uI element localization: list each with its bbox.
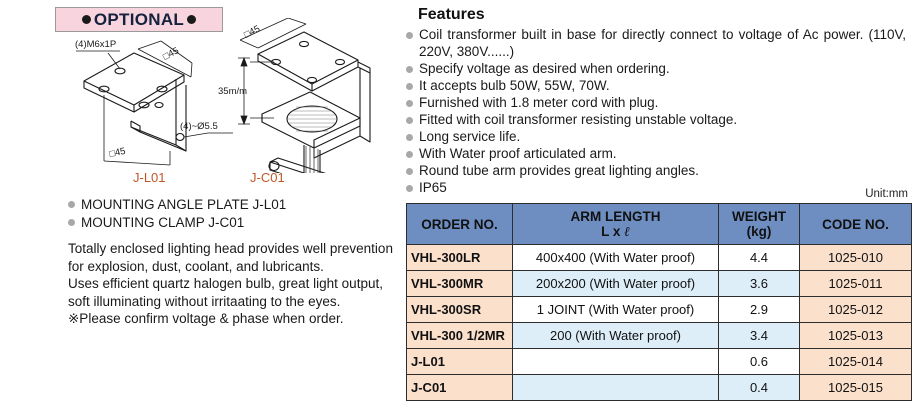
annotation-dia55: (4)~Ø5.5: [180, 121, 218, 132]
cell-code-no: 1025-013: [800, 323, 912, 349]
cell-arm-length: [513, 375, 719, 401]
annotation-m6x1p: (4)M6x1P: [75, 39, 116, 50]
cell-order-no: VHL-300SR: [407, 297, 513, 323]
description-paragraph-2: Uses efficient quartz halogen bulb, grea…: [68, 275, 398, 310]
j-c01-technical-drawing: □45 35m/m: [218, 18, 403, 173]
feature-label: IP65: [419, 180, 906, 197]
cell-arm-length: 400x400 (With Water proof): [513, 245, 719, 271]
list-item: MOUNTING CLAMP J-C01: [68, 214, 388, 231]
product-description: Totally enclosed lighting head provides …: [68, 240, 398, 328]
features-and-specs-panel: Features Coil transformer built in base …: [405, 0, 914, 402]
mounting-accessory-list: MOUNTING ANGLE PLATE J-L01 MOUNTING CLAM…: [68, 196, 388, 232]
list-item: Long service life.: [406, 129, 906, 146]
bullet-icon: [406, 32, 413, 39]
table-row: VHL-300LR 400x400 (With Water proof) 4.4…: [407, 245, 912, 271]
feature-label: It accepts bulb 50W, 55W, 70W.: [419, 78, 906, 95]
cell-weight: 3.4: [719, 323, 800, 349]
table-row: VHL-300SR 1 JOINT (With Water proof) 2.9…: [407, 297, 912, 323]
table-row: VHL-300MR 200x200 (With Water proof) 3.6…: [407, 271, 912, 297]
cell-arm-length: 200x200 (With Water proof): [513, 271, 719, 297]
table-header-row: ORDER NO. ARM LENGTH L x ℓ WEIGHT (kg) C…: [407, 204, 912, 245]
features-list: Coil transformer built in base for direc…: [406, 27, 906, 197]
list-item: With Water proof articulated arm.: [406, 146, 906, 163]
column-header-order-no: ORDER NO.: [407, 204, 513, 245]
bullet-dot-left-icon: [82, 15, 91, 24]
cell-weight: 4.4: [719, 245, 800, 271]
table-row: J-C01 0.4 1025-015: [407, 375, 912, 401]
j-l01-technical-drawing: (4)M6x1P □45 □45 (4)~Ø5.5: [58, 33, 233, 173]
bullet-icon: [406, 134, 413, 141]
table-row: VHL-300 1/2MR 200 (With Water proof) 3.4…: [407, 323, 912, 349]
feature-label: Furnished with 1.8 meter cord with plug.: [419, 95, 906, 112]
cell-order-no: J-C01: [407, 375, 513, 401]
feature-label: Fitted with coil transformer resisting u…: [419, 112, 906, 129]
cell-arm-length: [513, 349, 719, 375]
cell-code-no: 1025-010: [800, 245, 912, 271]
list-item: Furnished with 1.8 meter cord with plug.: [406, 95, 906, 112]
feature-label: Round tube arm provides great lighting a…: [419, 163, 906, 180]
list-item: Coil transformer built in base for direc…: [406, 27, 906, 60]
cell-arm-length: 200 (With Water proof): [513, 323, 719, 349]
bullet-icon: [406, 151, 413, 158]
cell-weight: 0.6: [719, 349, 800, 375]
drawing-caption-j-c01: J-C01: [250, 170, 285, 185]
mounting-item-label: MOUNTING ANGLE PLATE J-L01: [81, 196, 286, 213]
annotation-square45-top: □45: [161, 45, 181, 62]
list-item: It accepts bulb 50W, 55W, 70W.: [406, 78, 906, 95]
description-paragraph-1: Totally enclosed lighting head provides …: [68, 240, 398, 275]
bullet-dot-right-icon: [187, 15, 196, 24]
optional-banner: OPTIONAL: [55, 7, 223, 32]
cell-code-no: 1025-015: [800, 375, 912, 401]
cell-code-no: 1025-012: [800, 297, 912, 323]
column-subheader-arm-length: L x ℓ: [513, 224, 718, 239]
column-header-weight: WEIGHT (kg): [719, 204, 800, 245]
bullet-icon: [406, 168, 413, 175]
cell-order-no: VHL-300LR: [407, 245, 513, 271]
bullet-icon: [68, 201, 75, 208]
list-item: Specify voltage as desired when ordering…: [406, 61, 906, 78]
bullet-icon: [406, 100, 413, 107]
annotation-35mm: 35m/m: [218, 86, 247, 97]
feature-label: Coil transformer built in base for direc…: [419, 27, 906, 60]
column-header-arm-length: ARM LENGTH L x ℓ: [513, 204, 719, 245]
cell-order-no: J-L01: [407, 349, 513, 375]
bullet-icon: [406, 117, 413, 124]
bullet-icon: [68, 219, 75, 226]
drawing-caption-j-l01: J-L01: [133, 170, 166, 185]
list-item: Round tube arm provides great lighting a…: [406, 163, 906, 180]
cell-order-no: VHL-300MR: [407, 271, 513, 297]
bullet-icon: [406, 83, 413, 90]
cell-arm-length: 1 JOINT (With Water proof): [513, 297, 719, 323]
list-item: MOUNTING ANGLE PLATE J-L01: [68, 196, 388, 213]
column-header-code-no: CODE NO.: [800, 204, 912, 245]
annotation-square45-bottom: □45: [108, 146, 126, 160]
feature-label: Specify voltage as desired when ordering…: [419, 61, 906, 78]
description-note: ※Please confirm voltage & phase when ord…: [68, 310, 398, 328]
unit-label: Unit:mm: [865, 188, 908, 200]
annotation-square45-clamp: □45: [242, 23, 262, 40]
feature-label: Long service life.: [419, 129, 906, 146]
cell-code-no: 1025-011: [800, 271, 912, 297]
bullet-icon: [406, 185, 413, 192]
features-heading: Features: [418, 6, 485, 24]
mounting-item-label: MOUNTING CLAMP J-C01: [81, 214, 244, 231]
specification-table: ORDER NO. ARM LENGTH L x ℓ WEIGHT (kg) C…: [406, 203, 912, 401]
list-item: Fitted with coil transformer resisting u…: [406, 112, 906, 129]
bullet-icon: [406, 66, 413, 73]
optional-accessories-panel: OPTIONAL: [0, 0, 405, 402]
optional-banner-label: OPTIONAL: [94, 10, 184, 30]
list-item: IP65: [406, 180, 906, 197]
cell-weight: 0.4: [719, 375, 800, 401]
feature-label: With Water proof articulated arm.: [419, 146, 906, 163]
cell-order-no: VHL-300 1/2MR: [407, 323, 513, 349]
cell-weight: 2.9: [719, 297, 800, 323]
cell-weight: 3.6: [719, 271, 800, 297]
cell-code-no: 1025-014: [800, 349, 912, 375]
table-row: J-L01 0.6 1025-014: [407, 349, 912, 375]
